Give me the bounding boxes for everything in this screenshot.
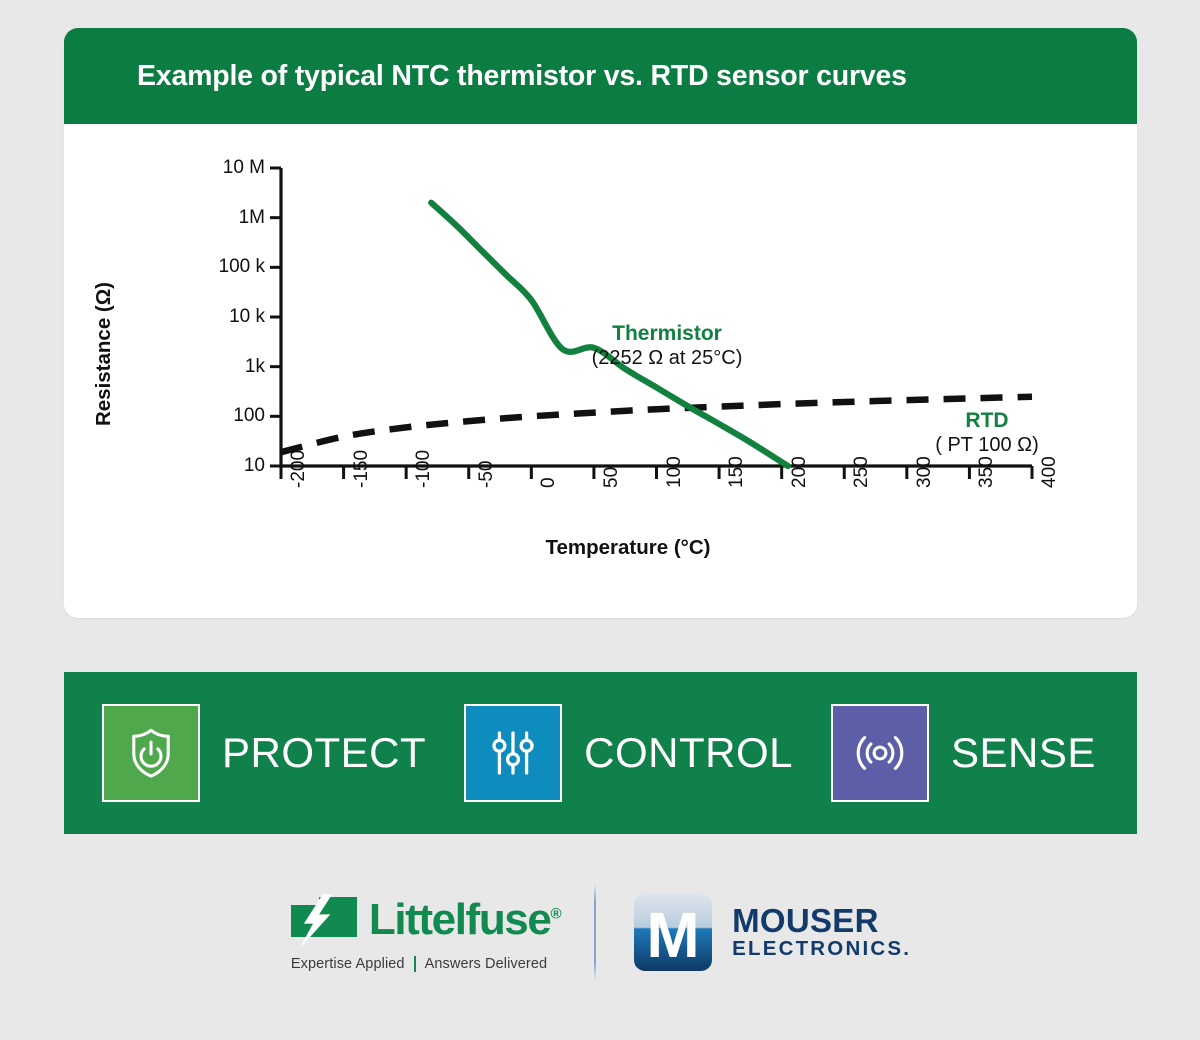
x-tick-label: -200	[288, 450, 310, 488]
littelfuse-lightning-icon	[289, 893, 359, 947]
x-tick-label: 100	[664, 456, 686, 488]
footer-divider	[594, 884, 596, 980]
littelfuse-wordmark: Littelfuse®	[369, 895, 560, 945]
y-tick-label: 10	[244, 455, 265, 477]
annotation-rtd-name: RTD	[902, 409, 1072, 434]
annotation-thermistor-sublabel: (2252 Ω at 25°C)	[567, 347, 767, 371]
x-tick-label: 200	[789, 456, 811, 488]
annotation-rtd: RTD ( PT 100 Ω)	[902, 409, 1072, 457]
x-tick-label: -50	[476, 461, 498, 488]
littelfuse-logo[interactable]: Littelfuse® Expertise Applied Answers De…	[289, 893, 560, 972]
mouser-m-icon: M	[630, 889, 716, 975]
x-tick-label: 150	[726, 456, 748, 488]
y-tick-label: 1M	[239, 207, 265, 229]
band-label-protect: PROTECT	[222, 729, 426, 777]
band-item-sense[interactable]: SENSE	[831, 704, 1134, 802]
signal-waves-icon	[831, 704, 929, 802]
y-axis-title: Resistance (Ω)	[92, 254, 116, 454]
tagline-left: Expertise Applied	[291, 956, 405, 972]
tagline-divider	[414, 956, 416, 972]
annotation-thermistor-name: Thermistor	[567, 322, 767, 347]
littelfuse-wordmark-text: Littelfuse	[369, 895, 551, 944]
chart-card-header: Example of typical NTC thermistor vs. RT…	[64, 28, 1137, 124]
chart-plot-area: 101001k10 k100 k1M10 M -200-150-100-5005…	[64, 124, 1137, 618]
annotation-rtd-sublabel: ( PT 100 Ω)	[902, 434, 1072, 458]
x-tick-label: 300	[914, 456, 936, 488]
band-item-control[interactable]: CONTROL	[464, 704, 831, 802]
band-label-sense: SENSE	[951, 729, 1096, 777]
mouser-wordmark: MOUSER ELECTRONICS.	[732, 904, 911, 960]
y-axis-ticks	[270, 168, 281, 466]
x-tick-label: 250	[851, 456, 873, 488]
sliders-icon	[464, 704, 562, 802]
y-tick-label: 1k	[245, 356, 265, 378]
band-label-control: CONTROL	[584, 729, 793, 777]
shield-power-icon	[102, 704, 200, 802]
x-tick-label: 0	[538, 477, 560, 488]
chart-card: Example of typical NTC thermistor vs. RT…	[64, 28, 1137, 618]
protect-control-sense-band: PROTECT CONTROL SENSE	[64, 672, 1137, 834]
y-tick-label: 100	[233, 405, 265, 427]
tagline-right: Answers Delivered	[425, 956, 548, 972]
littelfuse-tagline: Expertise Applied Answers Delivered	[289, 956, 547, 972]
band-item-protect[interactable]: PROTECT	[102, 704, 464, 802]
footer-logos: Littelfuse® Expertise Applied Answers De…	[0, 862, 1200, 1002]
x-tick-label: 400	[1039, 456, 1061, 488]
mouser-line-1: MOUSER	[732, 904, 911, 937]
x-axis-title: Temperature (°C)	[64, 536, 1137, 560]
page-title: Example of typical NTC thermistor vs. RT…	[137, 60, 907, 93]
svg-text:M: M	[646, 899, 699, 971]
x-tick-label: 350	[976, 456, 998, 488]
y-tick-label: 10 k	[229, 306, 265, 328]
registered-mark: ®	[550, 905, 560, 922]
y-tick-label: 10 M	[223, 157, 265, 179]
x-tick-label: -150	[351, 450, 373, 488]
x-tick-label: -100	[413, 450, 435, 488]
x-tick-label: 50	[601, 467, 623, 488]
mouser-line-2: ELECTRONICS.	[732, 939, 911, 960]
mouser-logo[interactable]: M MOUSER ELECTRONICS.	[630, 889, 911, 975]
y-tick-label: 100 k	[219, 256, 265, 278]
annotation-thermistor: Thermistor (2252 Ω at 25°C)	[567, 322, 767, 370]
